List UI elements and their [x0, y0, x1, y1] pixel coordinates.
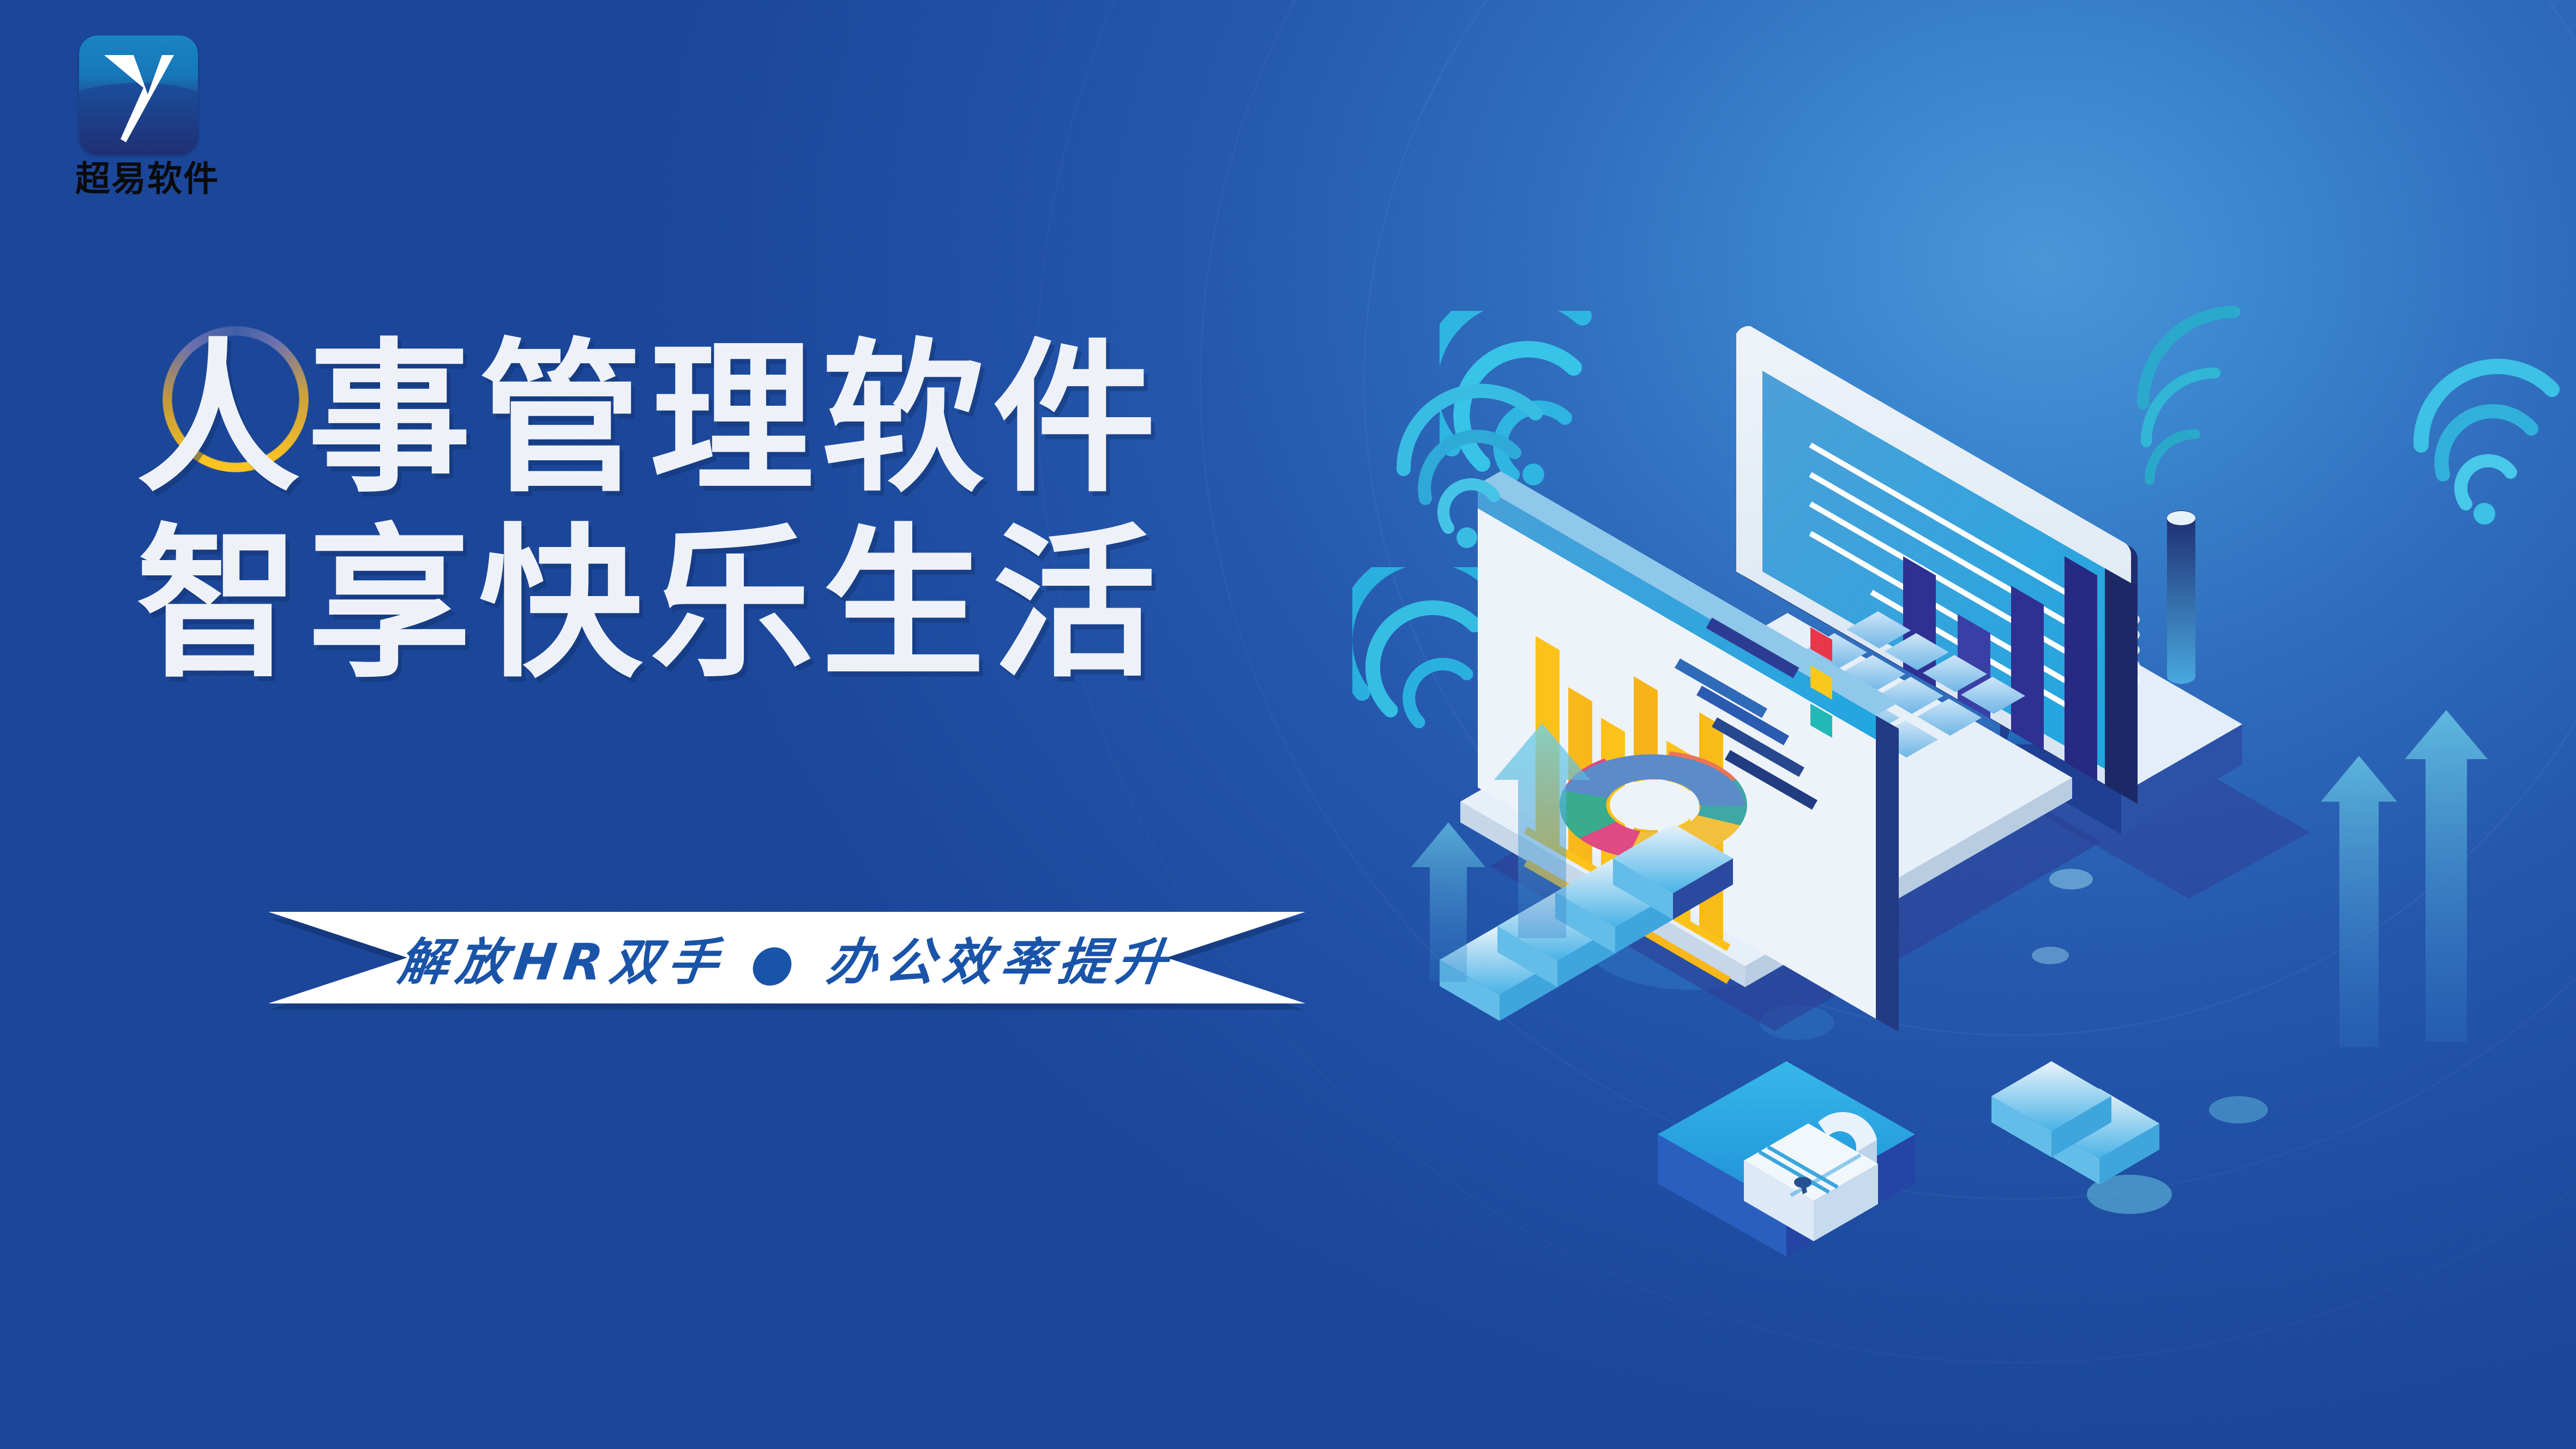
legend-swatch-list: [1810, 627, 1832, 738]
tagline-text: 解放HR双手 ● 办公效率提升: [395, 922, 1179, 994]
headline-line-1: 人事管理软件: [136, 333, 1581, 506]
promo-banner: 超易软件 人事管理软件 智享快乐生活 解放HR双手 ● 办公效率提升: [0, 0, 2576, 1449]
y-letter-logo-icon: [79, 35, 198, 154]
wifi-icon: [2143, 312, 2235, 480]
headline-line-2: 智享快乐生活: [136, 518, 1581, 692]
headline-block: 人事管理软件 智享快乐生活: [136, 333, 1581, 692]
tagline-ribbon: 解放HR双手 ● 办公效率提升: [268, 912, 1305, 1003]
brand-logo[interactable]: 超易软件: [55, 35, 240, 197]
logo-y-glyph: [79, 35, 198, 154]
brand-name-label: 超易软件: [55, 162, 240, 197]
padlock-icon: [1658, 1061, 1915, 1256]
isometric-stair-blocks-icon: [1991, 1061, 2159, 1185]
tall-antenna-icon: [2167, 510, 2195, 684]
